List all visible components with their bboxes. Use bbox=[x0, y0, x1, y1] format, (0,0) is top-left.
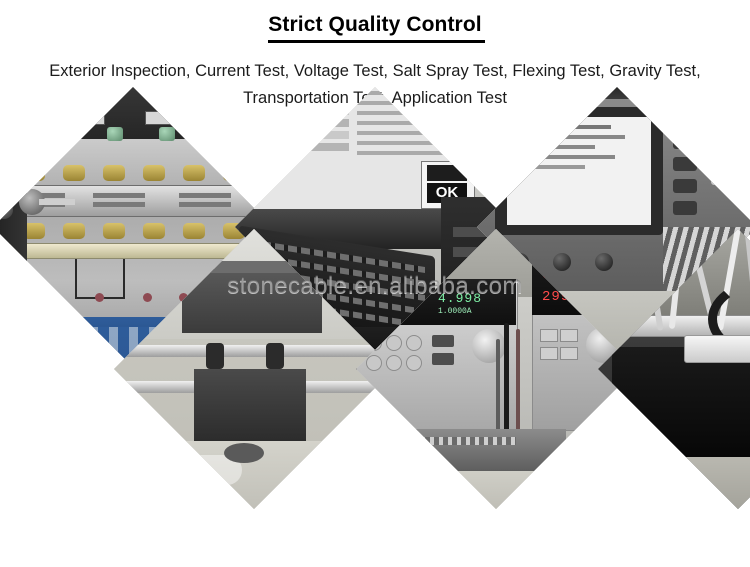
header: Strict Quality Control bbox=[0, 0, 750, 38]
title-underline-rule bbox=[268, 40, 485, 43]
photo-collage: OK bbox=[0, 110, 750, 567]
page-title: Strict Quality Control bbox=[0, 0, 750, 38]
quality-control-banner: Strict Quality Control Exterior Inspecti… bbox=[0, 0, 750, 567]
